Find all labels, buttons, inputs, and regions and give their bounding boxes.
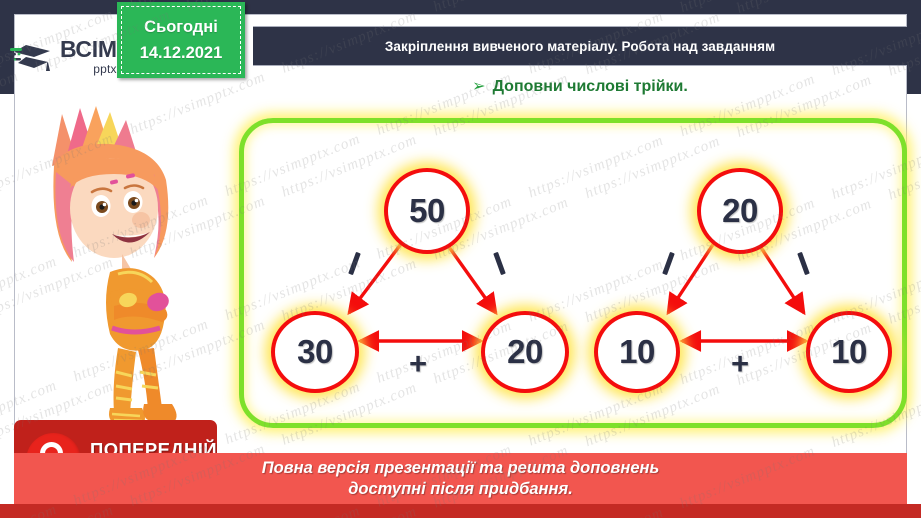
date-plate: Сьогодні 14.12.2021 (117, 2, 245, 78)
arrow-bullet-icon: ➢ (472, 79, 485, 95)
slide-canvas: ВСІМ pptx Сьогодні 14.12.2021 Закріпленн… (0, 0, 921, 518)
number-circle-t2-right[interactable]: 10 (806, 311, 892, 393)
number-circle-t1-top[interactable]: 50 (384, 168, 470, 254)
footer-line-2: доступні після придбання. (348, 479, 573, 500)
number-value: 50 (409, 192, 445, 230)
footer-bottom-strip (0, 504, 921, 518)
slide-title-band: Закріплення вивченого матеріалу. Робота … (253, 26, 907, 66)
number-circle-t2-left[interactable]: 10 (594, 311, 680, 393)
number-value: 20 (507, 333, 543, 371)
brand-logo[interactable]: ВСІМ pptx (8, 30, 120, 82)
subtitle-text: Доповни числові трійки. (493, 78, 688, 96)
number-circle-t2-top[interactable]: 20 (697, 168, 783, 254)
footer-banner: Повна версія презентації та решта доповн… (14, 453, 907, 504)
logo-brand-text: ВСІМ (60, 38, 117, 61)
date-plate-date: 14.12.2021 (140, 44, 223, 63)
number-value: 10 (619, 333, 655, 371)
number-value: 20 (722, 192, 758, 230)
number-value: 30 (297, 333, 333, 371)
fixie-girl-character (14, 96, 229, 426)
date-plate-label: Сьогодні (144, 18, 218, 37)
subtitle-row: ➢ Доповни числові трійки. (253, 74, 907, 100)
graduation-cap-icon (8, 36, 54, 76)
logo-sub-text: pptx (60, 63, 117, 75)
operator-plus-t2: + (731, 348, 749, 379)
number-circle-t1-left[interactable]: 30 (271, 311, 359, 393)
number-circle-t1-right[interactable]: 20 (481, 311, 569, 393)
date-plate-dashed-border (121, 6, 241, 74)
page-title: Закріплення вивченого матеріалу. Робота … (385, 39, 775, 54)
operator-plus-t1: + (409, 348, 427, 379)
number-value: 10 (831, 333, 867, 371)
footer-line-1: Повна версія презентації та решта доповн… (262, 458, 660, 479)
